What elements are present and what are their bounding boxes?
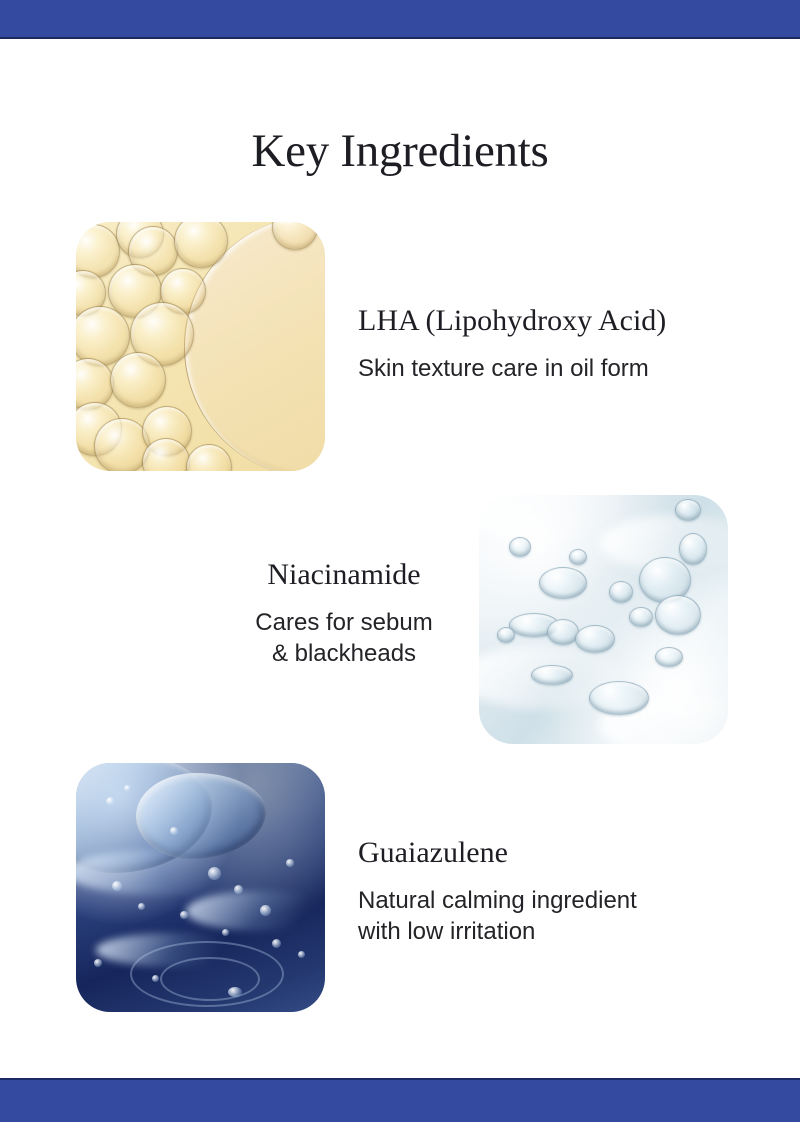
ingredient-image-niacinamide bbox=[479, 495, 728, 744]
bubble-sparkle bbox=[170, 827, 178, 835]
ingredients-page: Key Ingredients bbox=[0, 0, 800, 1120]
ingredient-image-lha bbox=[76, 222, 325, 471]
bubble-sparkle bbox=[152, 975, 159, 982]
water-gel-image bbox=[479, 495, 728, 744]
bubble-sparkle bbox=[138, 903, 145, 910]
bubble-sparkle bbox=[234, 885, 243, 894]
ingredient-description-line-2: & blackheads bbox=[210, 638, 478, 670]
oil-bubble bbox=[186, 444, 232, 471]
bubble-sparkle bbox=[208, 867, 221, 880]
bubble-sparkle bbox=[298, 951, 305, 958]
water-droplet bbox=[569, 549, 587, 565]
water-droplet bbox=[679, 533, 707, 565]
blue-glass-shape bbox=[136, 773, 266, 859]
page-title: Key Ingredients bbox=[0, 127, 800, 176]
bubble-sparkle bbox=[222, 929, 229, 936]
bubble-sparkle bbox=[112, 881, 122, 891]
blue-gel-ripple bbox=[160, 957, 260, 1001]
water-droplet bbox=[655, 647, 683, 667]
ingredient-description: Skin texture care in oil form bbox=[358, 353, 738, 385]
bottom-brand-bar bbox=[0, 1078, 800, 1122]
ingredient-name: Guaiazulene bbox=[358, 836, 738, 871]
bubble-sparkle bbox=[228, 987, 242, 997]
ingredient-description-line-1: Cares for sebum bbox=[210, 607, 478, 639]
oil-capsules-image bbox=[76, 222, 325, 471]
water-droplet bbox=[655, 595, 701, 635]
ingredient-text-lha: LHA (Lipohydroxy Acid) Skin texture care… bbox=[358, 304, 738, 384]
water-droplet bbox=[629, 607, 653, 627]
water-droplet bbox=[531, 665, 573, 685]
ingredient-description-line-2: with low irritation bbox=[358, 916, 738, 948]
bubble-sparkle bbox=[106, 797, 115, 806]
ingredient-image-guaiazulene bbox=[76, 763, 325, 1012]
water-droplet bbox=[575, 625, 615, 653]
ingredient-description-line-1: Natural calming ingredient bbox=[358, 885, 738, 917]
blue-gel-image bbox=[76, 763, 325, 1012]
water-droplet bbox=[547, 619, 579, 645]
bubble-sparkle bbox=[260, 905, 271, 916]
bubble-sparkle bbox=[286, 859, 294, 867]
ingredient-name: LHA (Lipohydroxy Acid) bbox=[358, 304, 738, 339]
water-droplet bbox=[539, 567, 587, 599]
oil-bubble bbox=[110, 352, 166, 408]
water-droplet bbox=[509, 537, 531, 557]
water-droplet bbox=[497, 627, 515, 643]
bubble-sparkle bbox=[94, 959, 102, 967]
ingredient-name: Niacinamide bbox=[210, 558, 478, 593]
water-droplet bbox=[675, 499, 701, 521]
ingredient-text-guaiazulene: Guaiazulene Natural calming ingredient w… bbox=[358, 836, 738, 948]
top-brand-bar bbox=[0, 0, 800, 39]
bubble-sparkle bbox=[124, 785, 131, 792]
water-droplet bbox=[609, 581, 633, 603]
bubble-sparkle bbox=[180, 911, 188, 919]
water-droplet bbox=[589, 681, 649, 715]
bubble-sparkle bbox=[272, 939, 281, 948]
ingredient-text-niacinamide: Niacinamide Cares for sebum & blackheads bbox=[210, 558, 478, 670]
blue-gel-highlight bbox=[186, 891, 325, 931]
